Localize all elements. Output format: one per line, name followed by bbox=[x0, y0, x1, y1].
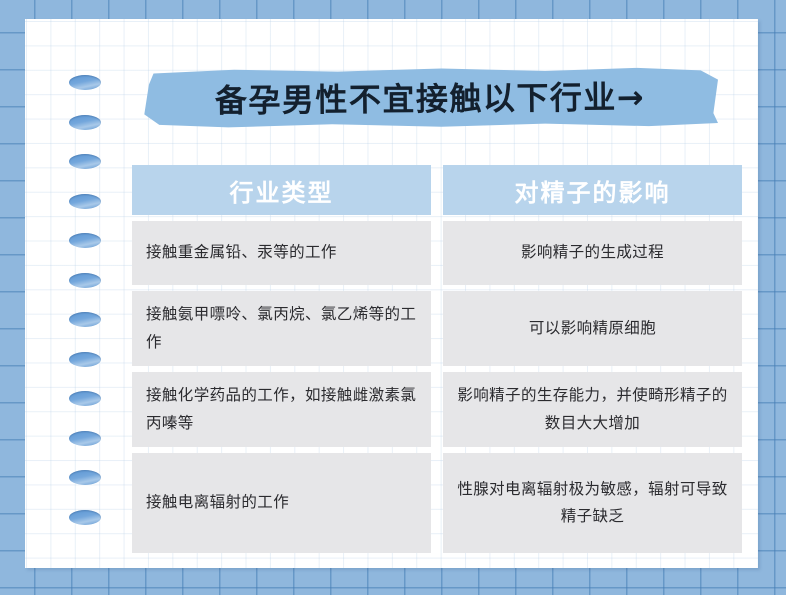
spiral-ring-icon bbox=[69, 194, 101, 209]
header-label: 行业类型 bbox=[230, 173, 334, 208]
spiral-ring-icon bbox=[69, 154, 101, 169]
spiral-ring-icon bbox=[69, 273, 101, 288]
header-label: 对精子的影响 bbox=[515, 173, 671, 208]
page-title: 备孕男性不宜接触以下行业→ bbox=[142, 63, 719, 130]
cell-industry: 接触氨甲嘌呤、氯丙烷、氯乙烯等的工作 bbox=[132, 291, 431, 366]
cell-text: 可以影响精原细胞 bbox=[529, 315, 656, 342]
table-row: 接触化学药品的工作，如接触雌激素氯丙嗪等 影响精子的生存能力，并使畸形精子的数目… bbox=[132, 372, 742, 447]
cell-text: 接触氨甲嘌呤、氯丙烷、氯乙烯等的工作 bbox=[146, 301, 417, 355]
infographic-page: 备孕男性不宜接触以下行业→ 行业类型 对精子的影响 接触重金属铅、汞等的工作 影… bbox=[0, 0, 786, 595]
spiral-ring-icon bbox=[69, 352, 101, 367]
cell-effect: 性腺对电离辐射极为敏感，辐射可导致精子缺乏 bbox=[443, 453, 742, 553]
spiral-binding bbox=[69, 75, 105, 568]
cell-effect: 可以影响精原细胞 bbox=[443, 291, 742, 366]
spiral-ring-icon bbox=[69, 431, 101, 446]
spiral-ring-icon bbox=[69, 470, 101, 485]
spiral-ring-icon bbox=[69, 233, 101, 248]
spiral-ring-icon bbox=[69, 312, 101, 327]
table-row: 接触重金属铅、汞等的工作 影响精子的生成过程 bbox=[132, 221, 742, 285]
spiral-ring-icon bbox=[69, 75, 101, 90]
cell-effect: 影响精子的生存能力，并使畸形精子的数目大大增加 bbox=[443, 372, 742, 447]
table-header-effect: 对精子的影响 bbox=[443, 165, 742, 215]
cell-text: 接触重金属铅、汞等的工作 bbox=[146, 239, 337, 266]
cell-text: 接触化学药品的工作，如接触雌激素氯丙嗪等 bbox=[146, 382, 417, 436]
spiral-ring-icon bbox=[69, 510, 101, 525]
cell-text: 性腺对电离辐射极为敏感，辐射可导致精子缺乏 bbox=[457, 476, 728, 530]
cell-industry: 接触电离辐射的工作 bbox=[132, 453, 431, 553]
cell-industry: 接触化学药品的工作，如接触雌激素氯丙嗪等 bbox=[132, 372, 431, 447]
cell-text: 接触电离辐射的工作 bbox=[146, 489, 289, 516]
table-row: 接触电离辐射的工作 性腺对电离辐射极为敏感，辐射可导致精子缺乏 bbox=[132, 453, 742, 553]
spiral-ring-icon bbox=[69, 115, 101, 130]
notebook-sheet: 备孕男性不宜接触以下行业→ 行业类型 对精子的影响 接触重金属铅、汞等的工作 影… bbox=[25, 19, 758, 568]
cell-text: 影响精子的生存能力，并使畸形精子的数目大大增加 bbox=[457, 382, 728, 436]
title-banner: 备孕男性不宜接触以下行业→ bbox=[142, 66, 718, 128]
cell-industry: 接触重金属铅、汞等的工作 bbox=[132, 221, 431, 285]
table-row: 接触氨甲嘌呤、氯丙烷、氯乙烯等的工作 可以影响精原细胞 bbox=[132, 291, 742, 366]
table-header-row: 行业类型 对精子的影响 bbox=[132, 165, 742, 215]
spiral-ring-icon bbox=[69, 391, 101, 406]
cell-text: 影响精子的生成过程 bbox=[521, 239, 664, 266]
table-header-industry: 行业类型 bbox=[132, 165, 431, 215]
industry-effect-table: 行业类型 对精子的影响 接触重金属铅、汞等的工作 影响精子的生成过程 接触氨甲嘌… bbox=[132, 165, 742, 559]
cell-effect: 影响精子的生成过程 bbox=[443, 221, 742, 285]
